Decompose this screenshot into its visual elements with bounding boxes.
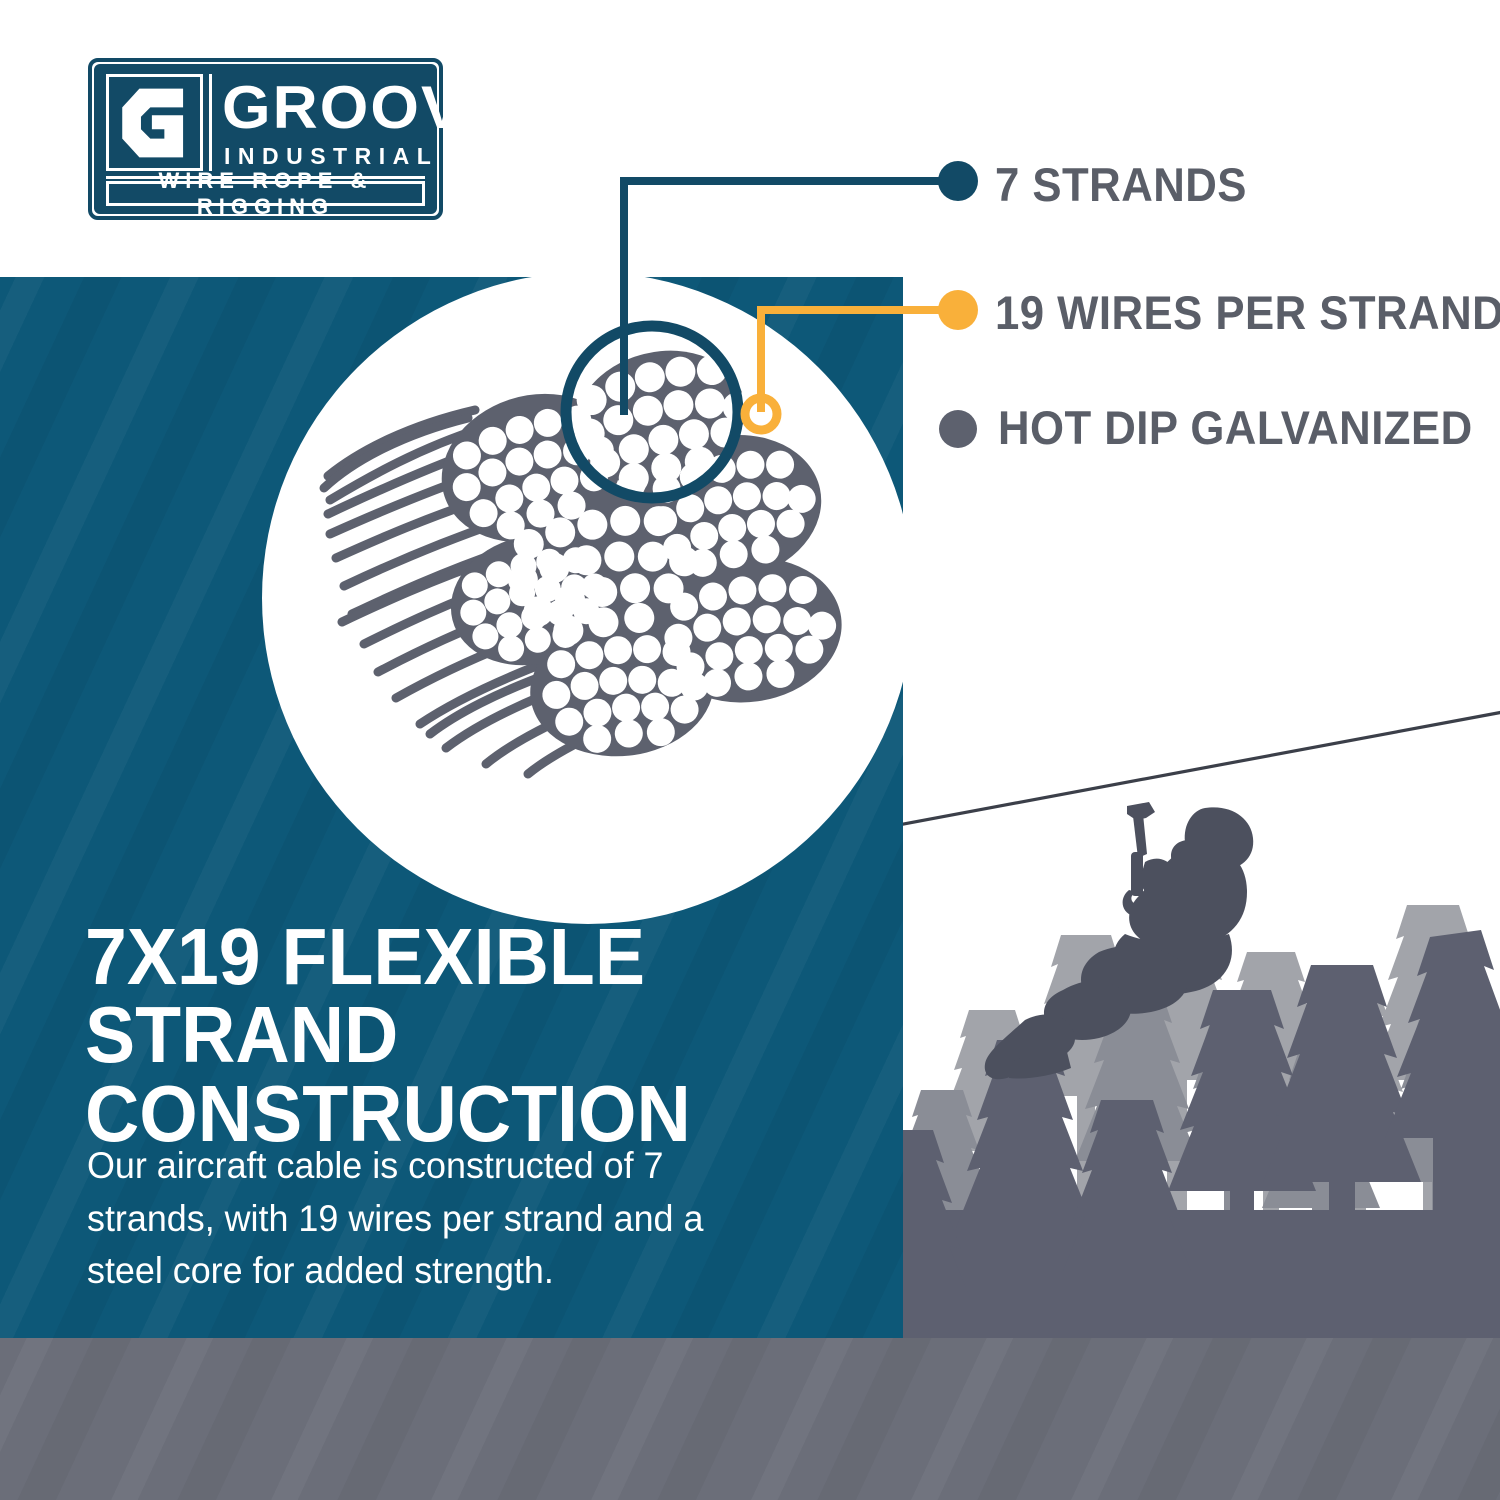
- page-title: 7X19 FLEXIBLE STRAND CONSTRUCTION: [85, 918, 828, 1153]
- connector-line-wires: [761, 310, 948, 412]
- callout-dot-galvanized: [939, 410, 977, 448]
- callout-label-strands: 7 STRANDS: [995, 157, 1247, 212]
- zipline-photo: [903, 690, 1500, 1338]
- callout-dot-strands: [938, 161, 978, 201]
- callout-label-hot-dip-galvanized: HOT DIP GALVANIZED: [998, 400, 1473, 455]
- callout-dot-wires: [938, 290, 978, 330]
- bottom-gray-band: [0, 1338, 1500, 1500]
- callout-connectors: [0, 0, 1500, 560]
- zipline-scene: [903, 690, 1500, 1338]
- infographic-canvas: GROOVE INDUSTRIAL WIRE ROPE & RIGGING: [0, 0, 1500, 1500]
- body-copy: Our aircraft cable is constructed of 7 s…: [87, 1140, 766, 1298]
- callout-label-wires-per-strand: 19 WIRES PER STRAND: [995, 285, 1500, 340]
- connector-line-strands: [624, 181, 948, 415]
